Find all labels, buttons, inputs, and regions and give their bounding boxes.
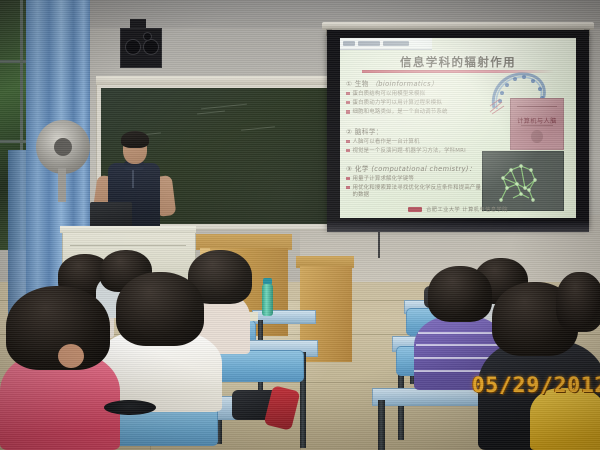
list-item: 用量子计算求解化学键等 xyxy=(346,176,482,183)
bullet-square-icon xyxy=(346,177,350,181)
student-white-shirt-head xyxy=(116,272,204,346)
bullet-square-icon xyxy=(346,140,350,144)
fan-mount-arm xyxy=(58,168,66,202)
list-item: 蛋白质动力学可以用计算过程来模拟 xyxy=(346,100,488,107)
list-item: 用优化和搜索算法寻找优化化学反应条件和提高产量的数据 xyxy=(346,185,482,199)
bullet-square-icon xyxy=(346,110,350,114)
blackboard-top-rail xyxy=(96,76,332,85)
screen-roller-housing xyxy=(322,22,594,30)
presenter-hair xyxy=(121,131,149,148)
student-yellow-shirt-body xyxy=(530,388,600,450)
bullet-square-icon xyxy=(346,186,350,190)
university-crest-icon xyxy=(408,207,422,212)
screen-bottom-weight-bar xyxy=(327,222,589,232)
fan-hub xyxy=(54,138,72,156)
bullet-square-icon xyxy=(346,92,350,96)
green-water-bottle xyxy=(262,284,273,316)
list-item: 人脑可以看作是一台计算机 xyxy=(346,139,486,146)
list-item: 视觉是一个反演问题-机器学习方法，学科MRI xyxy=(346,148,486,155)
list-item: 蛋白质结构可以用模型来模拟 xyxy=(346,91,488,98)
bullet-square-icon xyxy=(346,149,350,153)
slide-footer: 合肥工业大学 计算机与信息学院 xyxy=(340,206,576,213)
teacher-desk-panel-line xyxy=(70,245,186,246)
section-3-heading: ③ 化学 (computational chemistry)： xyxy=(346,163,482,173)
shirt-stripe xyxy=(416,344,504,346)
powerpoint-toolbar xyxy=(340,38,432,50)
student-pink-shirt-ear xyxy=(58,344,84,368)
section-3-bullets: 用量子计算求解化学键等 用优化和搜索算法寻找优化化学反应条件和提高产量的数据 xyxy=(346,176,482,199)
teacher-desk-top xyxy=(60,226,196,233)
slide-footer-text: 合肥工业大学 计算机与信息学院 xyxy=(426,206,508,213)
wall-speaker xyxy=(120,28,162,68)
slide-section-1: ① 生物 （bioinformatics） 蛋白质结构可以用模型来模拟 蛋白质动… xyxy=(346,78,488,116)
slide-section-2: ② 脑科学： 人脑可以看作是一台计算机 视觉是一个反演问题-机器学习方法，学科M… xyxy=(346,126,486,155)
dark-ring-object-on-desk xyxy=(104,400,156,415)
slide-section-3: ③ 化学 (computational chemistry)： 用量子计算求解化… xyxy=(346,163,482,198)
section-1-bullets: 蛋白质结构可以用模型来模拟 蛋白质动力学可以用计算过程来模拟 细胞和电路类似，是… xyxy=(346,91,488,116)
bullet-square-icon xyxy=(346,101,350,105)
hanging-cable xyxy=(378,232,380,258)
book-cover-title: 计算机与人脑 xyxy=(511,116,563,125)
book-cover-image: 计算机与人脑 xyxy=(510,98,564,150)
book-cover-portrait xyxy=(531,130,543,143)
student-purple-stripe-head xyxy=(428,266,492,322)
shirt-stripe xyxy=(418,332,502,334)
student-far-right-head xyxy=(556,272,600,332)
section-2-bullets: 人脑可以看作是一台计算机 视觉是一个反演问题-机器学习方法，学科MRI xyxy=(346,139,486,155)
molecule-structure-image xyxy=(482,151,564,211)
section-1-heading: ① 生物 （bioinformatics） xyxy=(346,78,488,88)
list-item: 细胞和电路类似，是一个自动调节系统 xyxy=(346,109,488,116)
camera-date-stamp: 05/29/2012 xyxy=(472,373,600,397)
section-2-heading: ② 脑科学： xyxy=(346,126,486,136)
presenter-shirt-placket xyxy=(132,168,134,188)
lecture-hall-photo: 信息学科的辐射作用 ① 生物 （bioinformatics） 蛋白质结构可以用… xyxy=(0,0,600,450)
projected-slide: 信息学科的辐射作用 ① 生物 （bioinformatics） 蛋白质结构可以用… xyxy=(340,38,576,218)
desk-leg xyxy=(378,400,385,450)
presenter-laptop-screen xyxy=(90,202,132,228)
